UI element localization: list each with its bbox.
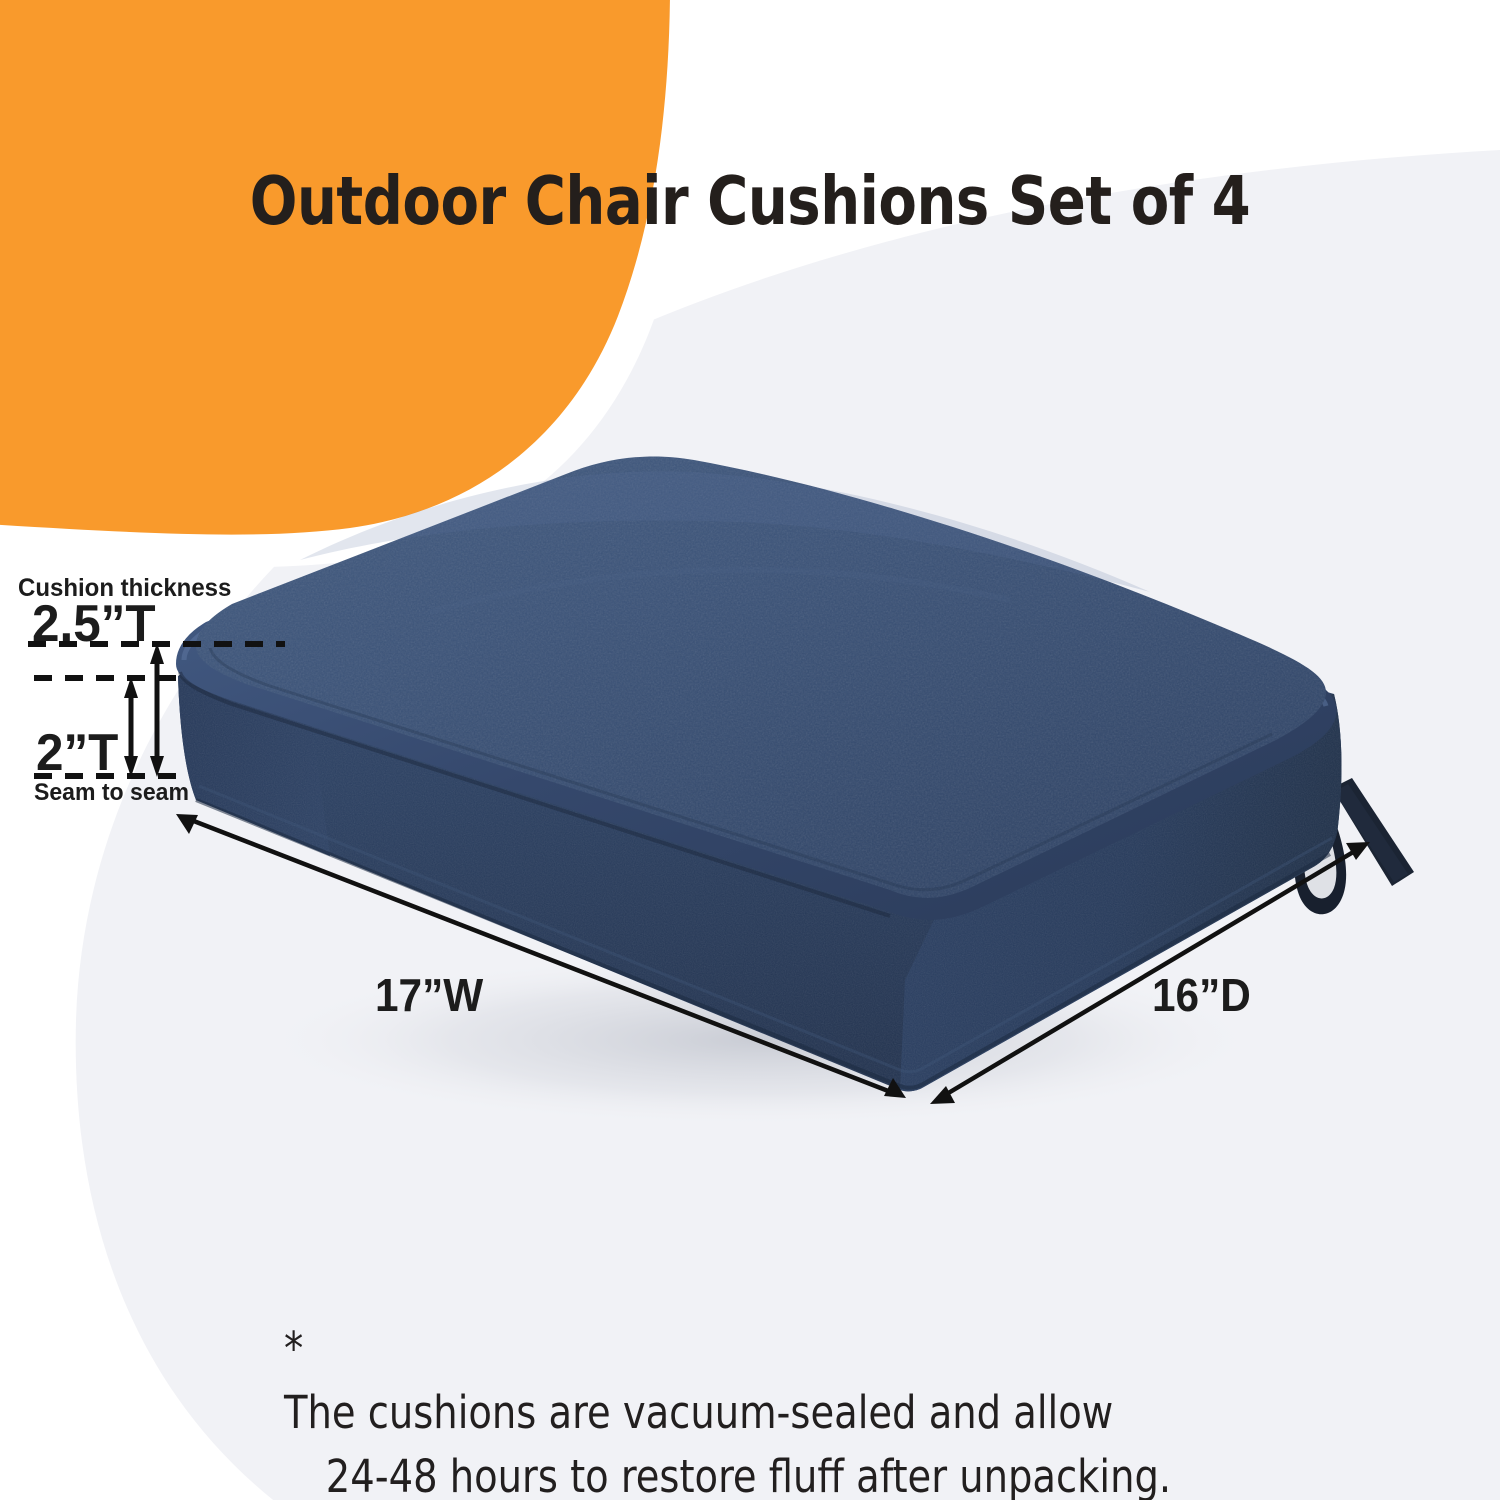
footnote-line-2: 24-48 hours to restore fluff after unpac… — [284, 1445, 1215, 1500]
depth-dimension-label: 16”D — [1152, 972, 1251, 1018]
infographic-canvas: Outdoor Chair Cushions Set of 4 — [0, 0, 1500, 1500]
cushion-thickness-value: 2.5”T — [32, 598, 156, 650]
width-dimension-label: 17”W — [375, 972, 483, 1018]
seam-to-seam-value: 2”T — [36, 727, 118, 779]
footnote-asterisk: * — [284, 1322, 303, 1375]
seam-to-seam-caption: Seam to seam — [34, 781, 189, 805]
footnote-line-1: The cushions are vacuum-sealed and allow — [284, 1386, 1113, 1439]
footnote: * The cushions are vacuum-sealed and all… — [284, 1253, 1215, 1500]
